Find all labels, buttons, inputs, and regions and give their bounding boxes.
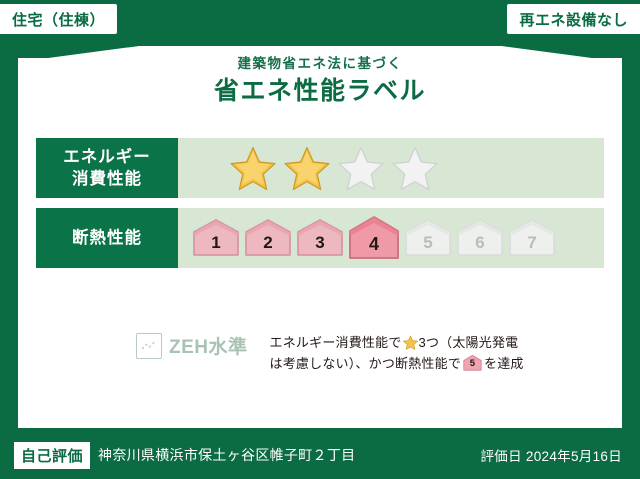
zeh-note-line2-a: は考慮しない）、かつ断熱性能で — [270, 356, 462, 371]
insulation-grade-2: 2 — [244, 219, 292, 257]
insulation-badge-value: 5 — [463, 356, 482, 371]
zeh-label: ZEH水準 — [169, 332, 248, 359]
insulation-grade-1: 1 — [192, 219, 240, 257]
zeh-description: エネルギー消費性能で3つ（太陽光発電 は考慮しない）、かつ断熱性能で5を達成 — [270, 332, 524, 374]
evaluation-date: 評価日 2024年5月16日 — [480, 445, 622, 465]
insulation-grade-3: 3 — [296, 219, 344, 257]
insulation-grade-4-value: 4 — [369, 234, 379, 260]
zeh-checkbox-icon — [136, 333, 162, 359]
property-address: 神奈川県横浜市保土ヶ谷区帷子町２丁目 — [98, 445, 355, 465]
zeh-note-line1-a: エネルギー消費性能で — [270, 335, 402, 350]
title-block: 建築物省エネ法に基づく 省エネ性能ラベル — [18, 56, 622, 109]
insulation-grade-5: 5 — [404, 219, 452, 257]
insulation-grade-2-value: 2 — [263, 233, 272, 257]
insulation-grade-7-value: 7 — [527, 233, 536, 257]
title-subtitle: 建築物省エネ法に基づく — [18, 56, 622, 72]
zeh-standard-indicator: ZEH水準 — [36, 332, 248, 359]
insulation-grade-3-value: 3 — [315, 233, 324, 257]
insulation-grade-6: 6 — [456, 219, 504, 257]
star-icon-empty-3 — [338, 145, 384, 191]
renewable-equipment-tag: 再エネ設備なし — [507, 4, 640, 34]
star-icon-filled-2 — [284, 145, 330, 191]
insulation-grade-7: 7 — [508, 219, 556, 257]
energy-label-line1: エネルギー — [63, 146, 151, 168]
energy-star-rating — [178, 138, 604, 198]
self-evaluation-badge: 自己評価 — [14, 442, 90, 469]
footer-bar: 自己評価 神奈川県横浜市保土ヶ谷区帷子町２丁目 評価日 2024年5月16日 — [0, 431, 640, 479]
insulation-grade-5-value: 5 — [423, 233, 432, 257]
insulation-grade-4: 4 — [348, 216, 400, 260]
insulation-badge-inline: 5 — [463, 355, 482, 371]
zeh-note-block: ZEH水準 エネルギー消費性能で3つ（太陽光発電 は考慮しない）、かつ断熱性能で… — [36, 332, 604, 374]
page-title: 省エネ性能ラベル — [18, 75, 622, 109]
insulation-label: 断熱性能 — [36, 208, 178, 268]
energy-label-line2: 消費性能 — [72, 168, 142, 190]
rating-rows: エネルギー 消費性能 — [36, 138, 604, 278]
building-type-tag: 住宅（住棟） — [0, 4, 117, 34]
energy-consumption-row: エネルギー 消費性能 — [36, 138, 604, 198]
insulation-grade-scale: 1 2 3 — [178, 208, 604, 268]
insulation-label-text: 断熱性能 — [72, 227, 142, 249]
star-icon-inline — [403, 335, 418, 350]
insulation-grade-1-value: 1 — [211, 233, 220, 257]
insulation-row: 断熱性能 1 2 — [36, 208, 604, 268]
energy-performance-label: 住宅（住棟） 再エネ設備なし 建築物省エネ法に基づく 省エネ性能ラベル エネルギ… — [0, 0, 640, 479]
star-icon-empty-4 — [392, 145, 438, 191]
zeh-note-line2-b: を達成 — [484, 356, 524, 371]
star-icon-filled-1 — [230, 145, 276, 191]
insulation-grade-6-value: 6 — [475, 233, 484, 257]
energy-consumption-label: エネルギー 消費性能 — [36, 138, 178, 198]
zeh-note-line1-b: 3つ（太陽光発電 — [419, 335, 519, 350]
